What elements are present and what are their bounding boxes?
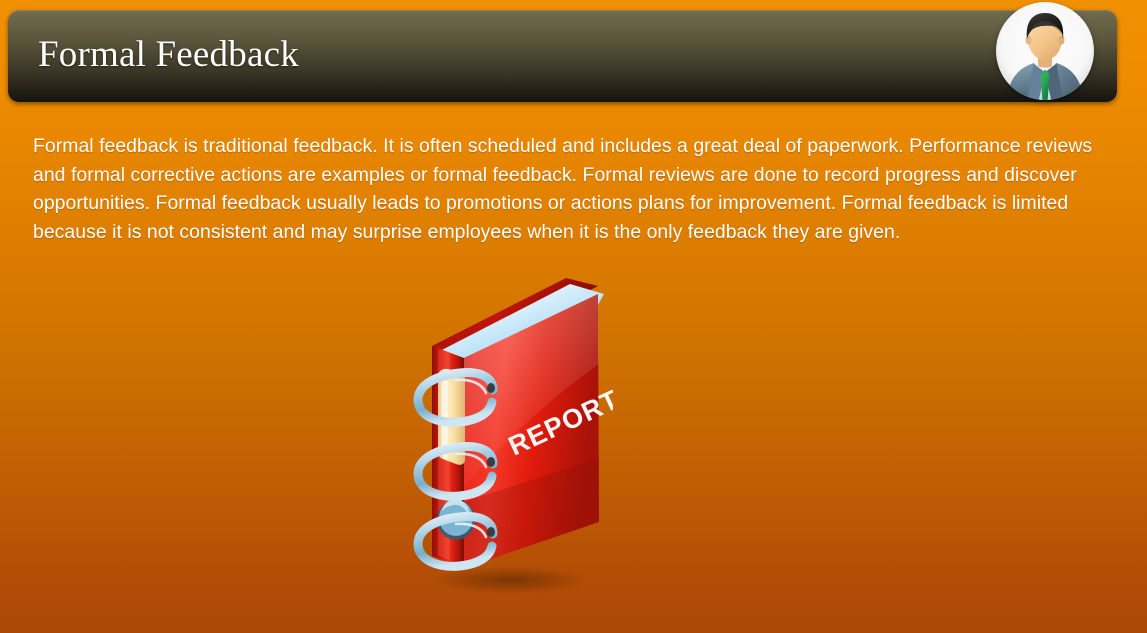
businessman-avatar-icon	[995, 1, 1095, 101]
title-bar: Formal Feedback	[8, 10, 1117, 102]
page-title: Formal Feedback	[38, 32, 299, 78]
ring-binder-icon: REPORT	[398, 272, 613, 597]
body-paragraph: Formal feedback is traditional feedback.…	[33, 132, 1101, 246]
slide-canvas: Formal Feedback	[0, 0, 1147, 633]
